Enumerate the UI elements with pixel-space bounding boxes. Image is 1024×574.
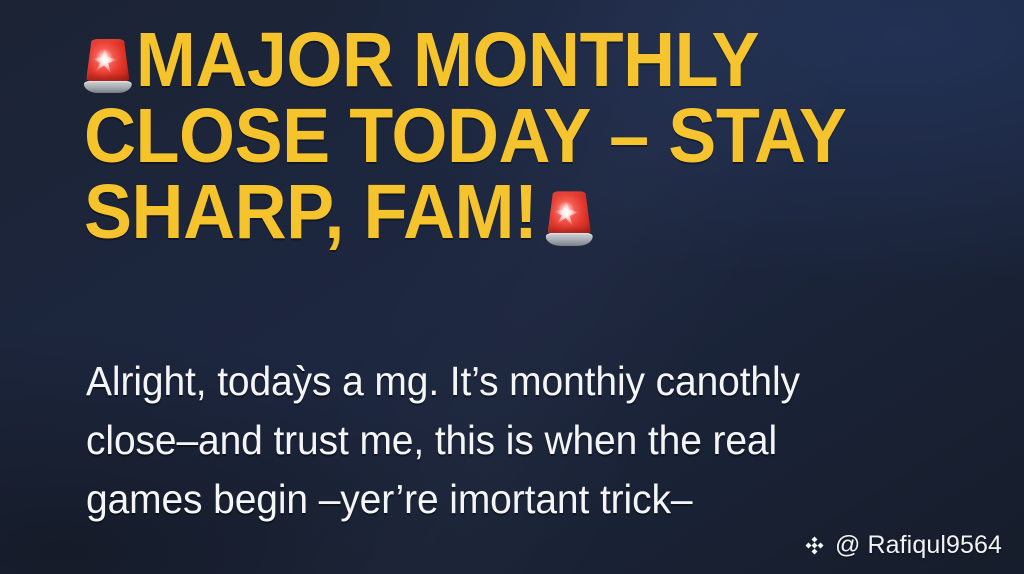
watermark: @ Rafiqul9564 <box>803 531 1002 560</box>
body-line-2: close–and trust me, this is when the rea… <box>86 417 777 463</box>
headline-line-3: SHARP, FAM! <box>84 169 538 255</box>
siren-base <box>545 233 593 246</box>
rotating-light-icon-trailing <box>545 189 593 246</box>
headline-line-1: MAJOR MONTHLY <box>136 17 759 103</box>
rotating-light-icon <box>84 37 132 94</box>
body-line-1: Alright, todaỳ̀s a mg. It’s monthiy can… <box>86 358 800 404</box>
post-canvas: MAJOR MONTHLY CLOSE TODAY – STAY SHARP, … <box>0 0 1024 574</box>
siren-base <box>84 81 132 94</box>
watermark-handle: @ Rafiqul9564 <box>835 531 1002 560</box>
binance-logo-icon <box>803 534 826 557</box>
headline: MAJOR MONTHLY CLOSE TODAY – STAY SHARP, … <box>84 22 907 251</box>
body-copy: Alright, todaỳ̀s a mg. It’s monthiy can… <box>86 352 894 529</box>
body-line-3: games begin –yer’re imortant trick– <box>86 476 692 522</box>
headline-line-2: CLOSE TODAY – STAY <box>84 93 846 179</box>
